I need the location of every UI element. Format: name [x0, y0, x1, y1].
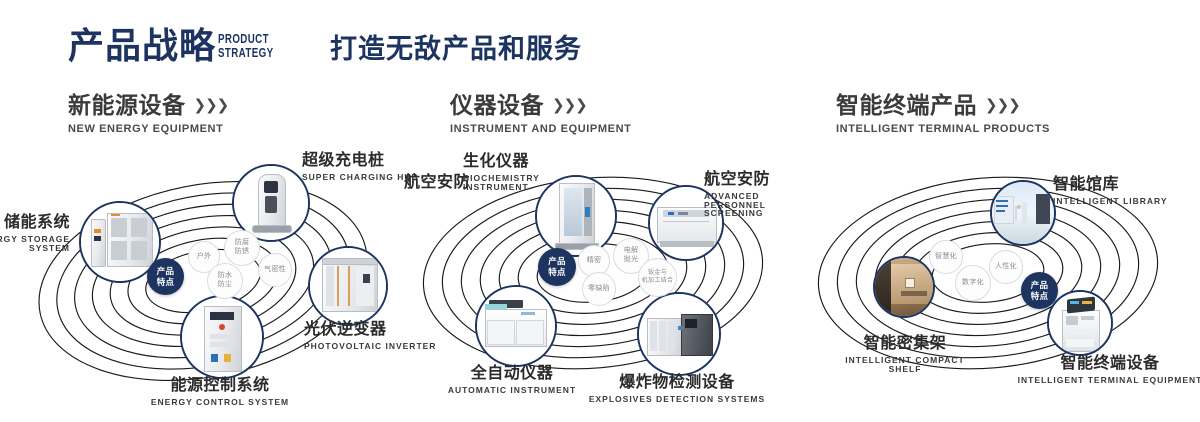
bubble-line2: 抛光	[624, 256, 639, 265]
label-cn: 智能终端设备	[1010, 356, 1200, 372]
bubble-line1: 零缺陷	[588, 285, 610, 294]
chevron-right-icon: ❯❯❯	[194, 98, 229, 113]
detection-cabinet-icon	[639, 294, 719, 374]
node-energy-control-system[interactable]	[180, 295, 264, 379]
bubble-line1: 钣金与	[642, 270, 674, 278]
label-intelligent-terminal-equipment: 智能终端设备 INTELLIGENT TERMINAL EQUIPMENT	[1010, 356, 1200, 385]
library-room-icon	[992, 182, 1054, 244]
page-title-english: PRODUCT STRATEGY	[218, 33, 273, 60]
section-heading-cn: 新能源设备❯❯❯	[68, 94, 228, 117]
chevron-right-icon: ❯❯❯	[985, 98, 1020, 113]
core-bubble-line1: 产品	[548, 256, 566, 267]
label-en: ENERGY STORAGE SYSTEM	[0, 235, 70, 252]
label-biochemistry-instrument: 生化仪器 BIOCHEMISTRY INSTRUMENT	[463, 154, 583, 191]
section-heading-cn-text: 智能终端产品	[836, 92, 977, 118]
control-cabinet-icon	[182, 297, 262, 377]
section-heading-instrument: 仪器设备❯❯❯ INSTRUMENT AND EQUIPMENT	[450, 94, 631, 135]
node-intelligent-library[interactable]	[990, 180, 1056, 246]
node-intelligent-compact-shelf[interactable]	[873, 256, 935, 318]
core-bubble-line1: 产品	[157, 266, 175, 277]
core-bubble-line1: 产品	[1031, 280, 1049, 291]
feature-bubble-zero-defect: 零缺陷	[582, 272, 616, 306]
bubble-line2: 防锈	[235, 248, 250, 257]
label-cn: 储能系统	[0, 215, 70, 231]
page-slogan: 打造无敌产品和服务	[330, 36, 582, 63]
self-service-terminal-icon	[1049, 292, 1111, 354]
label-explosives-detection-systems: 爆炸物检测设备 EXPLOSIVES DETECTION SYSTEMS	[582, 375, 772, 404]
core-bubble-product-features: 产品 特点	[1021, 272, 1058, 309]
label-cn: 全自动仪器	[422, 366, 602, 382]
label-cn: 智能密集架	[815, 336, 995, 352]
bubble-line1: 精密	[587, 257, 602, 266]
page-title-english-line1: PRODUCT	[218, 33, 273, 47]
bubble-line1: 人性化	[995, 263, 1017, 272]
section-heading-en: INSTRUMENT AND EQUIPMENT	[450, 124, 631, 135]
node-explosives-detection-systems[interactable]	[637, 292, 721, 376]
core-bubble-line2: 特点	[157, 277, 175, 288]
label-en: INTELLIGENT LIBRARY	[1053, 197, 1200, 206]
section-heading-intelligent-terminal: 智能终端产品❯❯❯ INTELLIGENT TERMINAL PRODUCTS	[836, 94, 1050, 135]
chevron-right-icon: ❯❯❯	[552, 98, 587, 113]
bubble-line1: 电解	[624, 247, 639, 256]
section-heading-cn-text: 仪器设备	[450, 92, 544, 118]
compact-shelf-icon	[875, 258, 933, 316]
label-energy-storage-system: 储能系统 ENERGY STORAGE SYSTEM	[0, 215, 70, 252]
label-energy-control-system: 能源控制系统 ENERGY CONTROL SYSTEM	[120, 378, 320, 407]
core-bubble-line2: 特点	[1031, 291, 1049, 302]
bubble-line2: 防尘	[218, 281, 233, 290]
label-en: ADVANCED PERSONNEL SCREENING	[704, 192, 802, 218]
label-en: INTELLIGENT TERMINAL EQUIPMENT	[1010, 376, 1200, 385]
feature-bubble-sheetmetal-machining: 钣金与 机加工结合	[638, 258, 677, 297]
label-en: INTELLIGENT COMPACT SHELF	[815, 356, 995, 373]
page-title-english-line2: STRATEGY	[218, 47, 273, 61]
feature-bubble-airtightness: 气密性	[258, 253, 292, 287]
bubble-line1: 防腐	[235, 239, 250, 248]
bubble-line1: 气密性	[264, 266, 286, 275]
label-en: BIOCHEMISTRY INSTRUMENT	[463, 174, 521, 191]
core-bubble-line2: 特点	[548, 267, 566, 278]
core-bubble-product-features: 产品 特点	[147, 258, 184, 295]
core-bubble-product-features: 产品 特点	[538, 248, 576, 286]
inverter-cabinet-icon	[310, 248, 386, 324]
bubble-line1: 户外	[197, 253, 212, 262]
label-intelligent-library: 智能馆库 INTELLIGENT LIBRARY	[1053, 177, 1200, 206]
section-heading-cn-text: 新能源设备	[68, 92, 186, 118]
automatic-analyzer-icon	[477, 287, 555, 365]
bubble-line2: 机加工结合	[642, 278, 674, 286]
label-cn: 智能馆库	[1053, 177, 1200, 193]
bubble-line1: 防水	[218, 272, 233, 281]
section-heading-en: NEW ENERGY EQUIPMENT	[68, 124, 228, 135]
label-cn: 生化仪器	[463, 154, 583, 170]
node-intelligent-terminal-equipment[interactable]	[1047, 290, 1113, 356]
section-heading-cn: 仪器设备❯❯❯	[450, 94, 631, 117]
section-heading-cn: 智能终端产品❯❯❯	[836, 94, 1050, 117]
label-en: EXPLOSIVES DETECTION SYSTEMS	[582, 395, 772, 404]
label-cn: 能源控制系统	[120, 378, 320, 394]
feature-bubble-humanization: 人性化	[989, 250, 1023, 284]
feature-bubble-waterproof-dustproof: 防水 防尘	[207, 263, 243, 299]
page-title: 产品战略	[68, 28, 216, 64]
cluster-intelligent-terminal: 智能馆库 INTELLIGENT LIBRARY 智能密集架 INTELLIGE…	[795, 150, 1195, 400]
cluster-new-energy: 储能系统 ENERGY STORAGE SYSTEM 超级充电桩 SUPER C…	[0, 150, 400, 400]
feature-bubble-intelligentization: 智慧化	[929, 240, 963, 274]
section-heading-en: INTELLIGENT TERMINAL PRODUCTS	[836, 124, 1050, 135]
bubble-line1: 智慧化	[935, 253, 957, 262]
charging-pile-icon	[234, 166, 308, 240]
label-automatic-instrument: 全自动仪器 AUTOMATIC INSTRUMENT	[422, 366, 602, 395]
section-heading-new-energy: 新能源设备❯❯❯ NEW ENERGY EQUIPMENT	[68, 94, 228, 135]
bubble-line1: 数字化	[962, 279, 984, 288]
node-automatic-instrument[interactable]	[475, 285, 557, 367]
cluster-instrument: 航空安防 生化仪器 BIOCHEMISTRY INSTRUMENT 航空安防 A…	[400, 150, 800, 400]
feature-bubble-digitalization: 数字化	[955, 265, 991, 301]
label-en: ENERGY CONTROL SYSTEM	[120, 398, 320, 407]
label-intelligent-compact-shelf: 智能密集架 INTELLIGENT COMPACT SHELF	[815, 336, 995, 373]
feature-bubble-anticorrosion: 防腐 防锈	[224, 230, 260, 266]
node-photovoltaic-inverter[interactable]	[308, 246, 388, 326]
label-cn: 爆炸物检测设备	[582, 375, 772, 391]
label-en: AUTOMATIC INSTRUMENT	[422, 386, 602, 395]
page-header: 产品战略 PRODUCT STRATEGY 打造无敌产品和服务	[0, 0, 1200, 86]
